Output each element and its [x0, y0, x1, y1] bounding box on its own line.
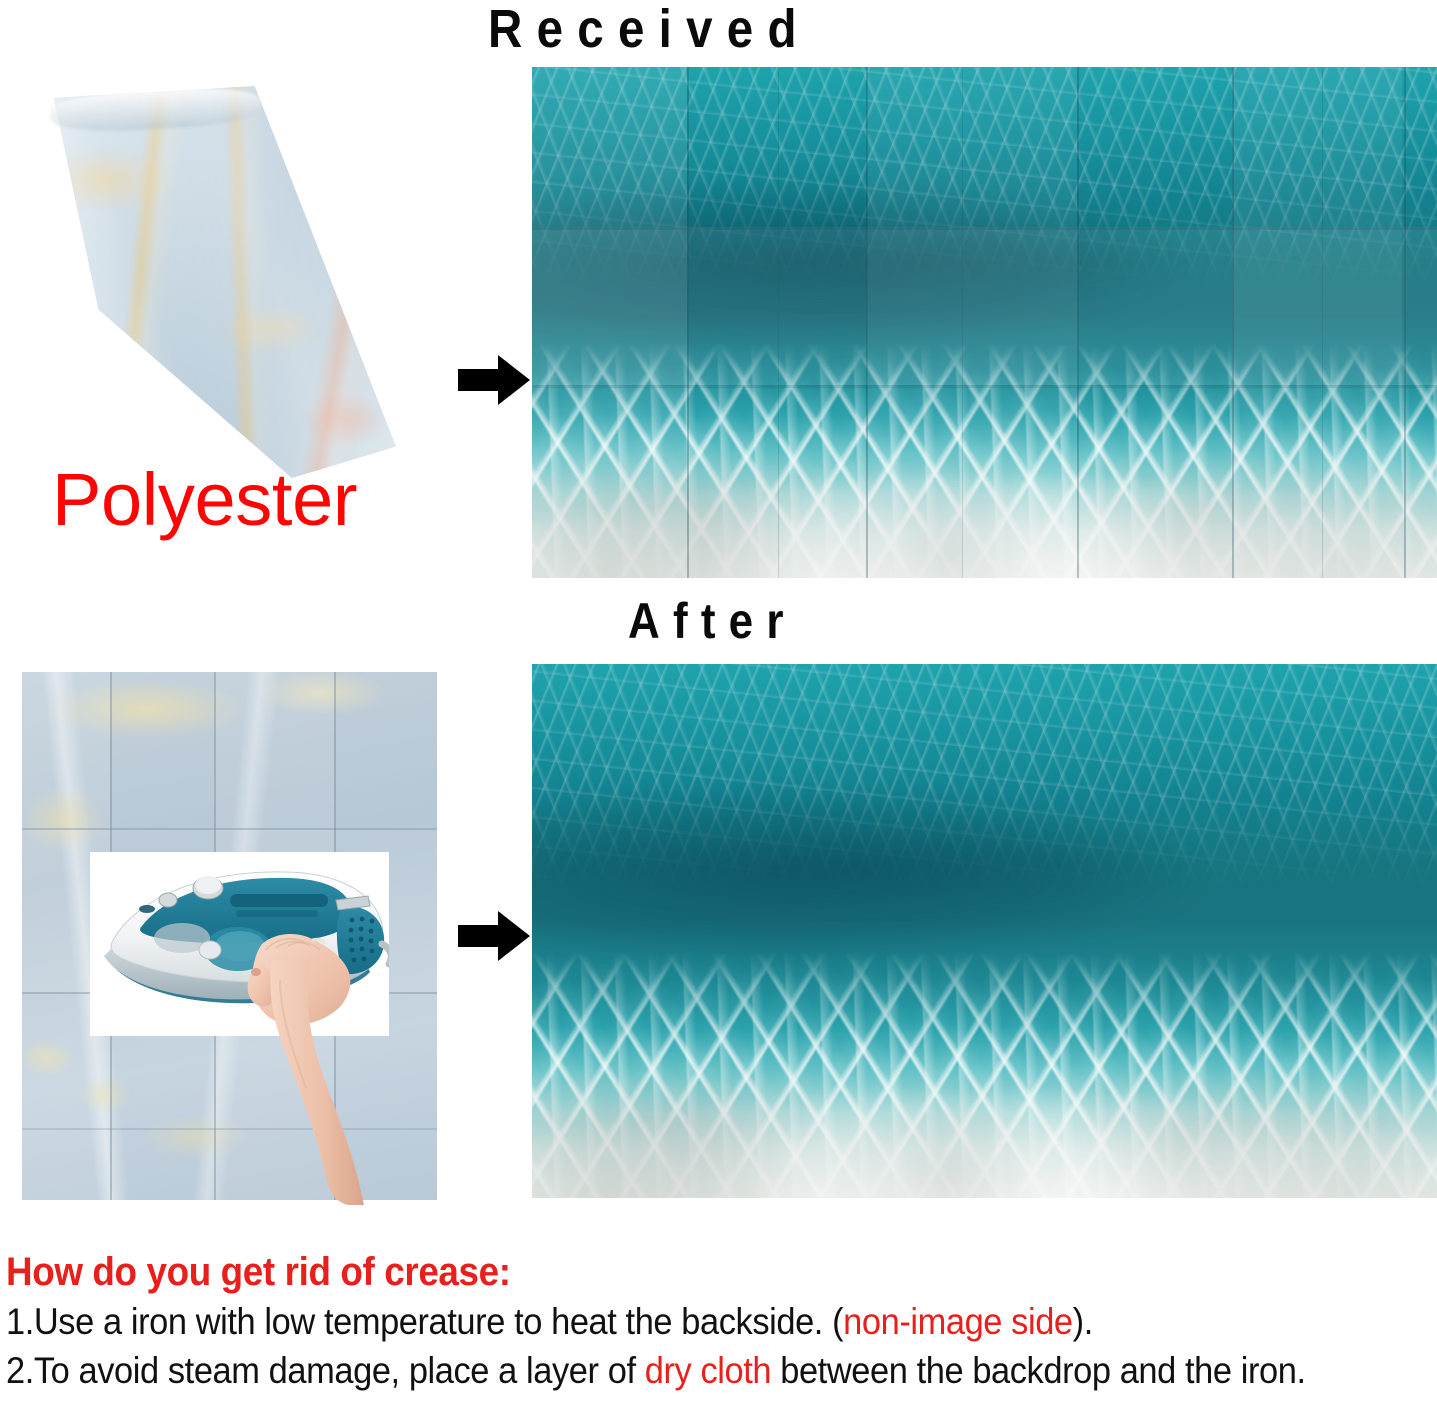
polyester-roll-photo — [24, 86, 396, 478]
instruction-1-prefix: 1.Use a iron with low temperature to hea… — [6, 1301, 843, 1342]
arrow-right-icon — [458, 352, 530, 408]
instruction-2-prefix: 2.To avoid steam damage, place a layer o… — [6, 1350, 645, 1391]
instruction-2-highlight: dry cloth — [645, 1350, 771, 1391]
after-backdrop-photo — [532, 664, 1437, 1198]
seabed-sand-mottle — [532, 445, 1437, 578]
page-title-received: Received — [488, 2, 811, 56]
instruction-line-2: 2.To avoid steam damage, place a layer o… — [6, 1348, 1331, 1393]
ironing-demo-photo — [90, 852, 389, 1036]
arrow-right-icon — [458, 908, 530, 964]
water-swell-shadow-secondary — [550, 220, 1184, 302]
water-swell-shadow-secondary — [550, 824, 1184, 909]
seabed-sand-mottle — [532, 1059, 1437, 1198]
fabric-roll-sheen — [24, 86, 396, 478]
instructions-heading: How do you get rid of crease: — [6, 1250, 1317, 1295]
page-title-after: After — [628, 596, 797, 646]
instruction-1-suffix: ). — [1073, 1301, 1093, 1342]
received-backdrop-photo — [532, 67, 1437, 578]
instruction-1-highlight: non-image side — [843, 1301, 1073, 1342]
material-label: Polyester — [52, 463, 357, 537]
instruction-2-suffix: between the backdrop and the iron. — [771, 1350, 1306, 1391]
instruction-line-1: 1.Use a iron with low temperature to hea… — [6, 1299, 1331, 1344]
instructions-block: How do you get rid of crease: 1.Use a ir… — [6, 1250, 1431, 1393]
clothes-iron-icon — [90, 852, 389, 1036]
